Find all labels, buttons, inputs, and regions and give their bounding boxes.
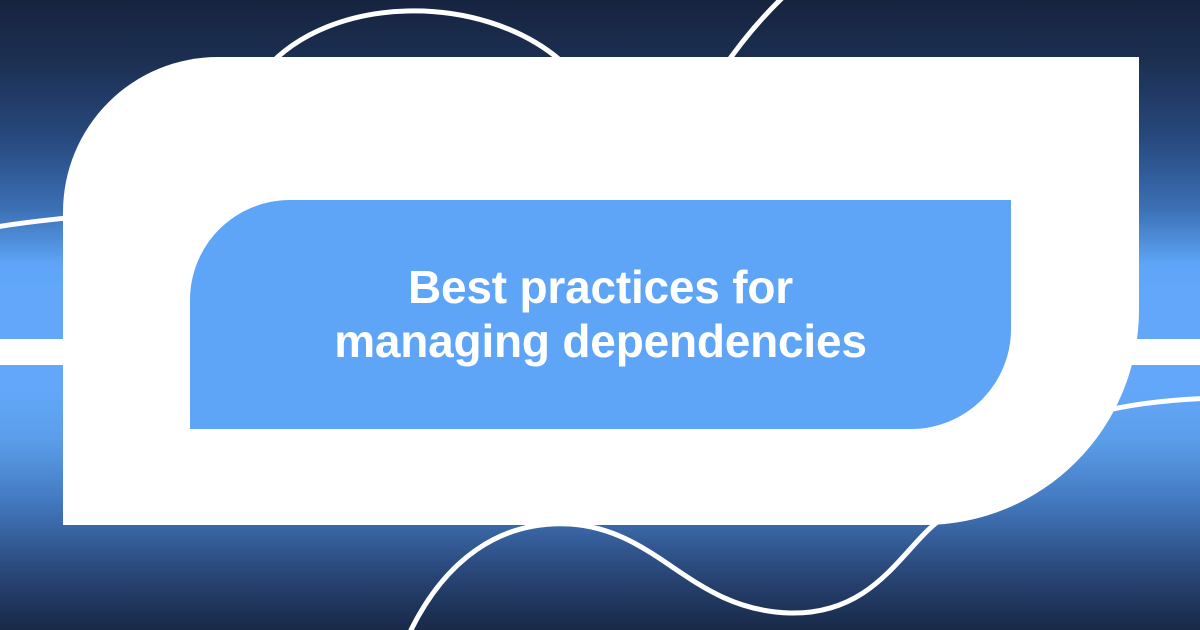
curve-bottom-s — [410, 516, 946, 630]
page-title: Best practices for managing dependencies — [310, 261, 891, 368]
headline-panel: Best practices for managing dependencies — [190, 200, 1011, 429]
social-share-banner: Best practices for managing dependencies — [0, 0, 1200, 630]
